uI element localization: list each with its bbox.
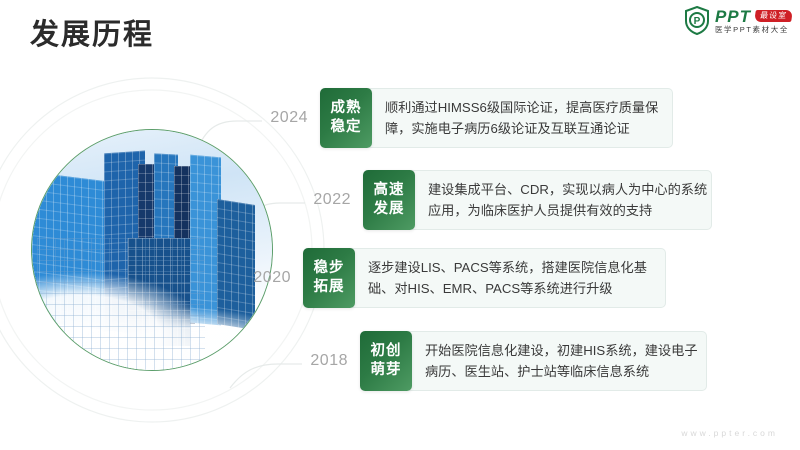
timeline-stage-badge[interactable]: 成熟 稳定 (320, 88, 372, 148)
photo-ring-border (31, 129, 273, 371)
shield-icon: P (684, 6, 710, 35)
timeline-description: 建设集成平台、CDR，实现以病人为中心的系统 应用，为临床医护人员提供有效的支持 (412, 170, 712, 230)
description-line-2: 障，实施电子病历6级论证及互联互通论证 (385, 118, 658, 139)
timeline-year: 2020 (245, 248, 303, 308)
site-watermark: www.ppter.com (681, 428, 778, 438)
description-line-1: 逐步建设LIS、PACS等系统，搭建医院信息化基 (368, 257, 651, 278)
timeline-row[interactable]: 2018 初创 萌芽 开始医院信息化建设，初建HIS系统，建设电子 病历、医生站… (302, 331, 707, 391)
timeline-row[interactable]: 2020 稳步 拓展 逐步建设LIS、PACS等系统，搭建医院信息化基 础、对H… (245, 248, 666, 308)
logo-brand-text: PPT (715, 8, 751, 25)
badge-line-2: 萌芽 (371, 361, 402, 380)
timeline-year: 2022 (305, 170, 363, 230)
badge-line-1: 稳步 (314, 259, 345, 278)
timeline-year: 2018 (302, 331, 360, 391)
timeline-description: 逐步建设LIS、PACS等系统，搭建医院信息化基 础、对HIS、EMR、PACS… (352, 248, 666, 308)
badge-line-1: 成熟 (331, 99, 362, 118)
badge-line-2: 稳定 (331, 118, 362, 137)
brand-logo: P PPT 最设室 医学PPT素材大全 (684, 6, 792, 35)
timeline-row[interactable]: 2022 高速 发展 建设集成平台、CDR，实现以病人为中心的系统 应用，为临床… (305, 170, 712, 230)
description-line-1: 开始医院信息化建设，初建HIS系统，建设电子 (425, 340, 692, 361)
description-line-2: 应用，为临床医护人员提供有效的支持 (428, 200, 697, 221)
badge-line-1: 高速 (374, 181, 405, 200)
page-title: 发展历程 (30, 20, 154, 52)
badge-line-2: 发展 (374, 200, 405, 219)
building-image (32, 130, 272, 370)
timeline-row[interactable]: 2024 成熟 稳定 顺利通过HIMSS6级国际论证，提高医疗质量保 障，实施电… (262, 88, 673, 148)
description-line-1: 顺利通过HIMSS6级国际论证，提高医疗质量保 (385, 97, 658, 118)
description-line-1: 建设集成平台、CDR，实现以病人为中心的系统 (428, 179, 697, 200)
slide-canvas: 发展历程 P PPT 最设室 医学PPT素材大全 (0, 0, 800, 450)
facade-grid-overlay (37, 238, 205, 370)
timeline-stage-badge[interactable]: 高速 发展 (363, 170, 415, 230)
description-line-2: 病历、医生站、护士站等临床信息系统 (425, 361, 692, 382)
timeline-stage-badge[interactable]: 稳步 拓展 (303, 248, 355, 308)
timeline-description: 顺利通过HIMSS6级国际论证，提高医疗质量保 障，实施电子病历6级论证及互联互… (369, 88, 673, 148)
logo-badge: 最设室 (754, 10, 793, 22)
logo-primary-row: PPT 最设室 (715, 8, 792, 25)
timeline-stage-badge[interactable]: 初创 萌芽 (360, 331, 412, 391)
timeline-description: 开始医院信息化建设，初建HIS系统，建设电子 病历、医生站、护士站等临床信息系统 (409, 331, 707, 391)
badge-line-2: 拓展 (314, 278, 345, 297)
svg-text:P: P (694, 16, 701, 27)
circular-building-photo (31, 129, 273, 371)
logo-subtitle: 医学PPT素材大全 (715, 26, 792, 34)
logo-text-block: PPT 最设室 医学PPT素材大全 (715, 8, 792, 34)
timeline-year: 2024 (262, 88, 320, 148)
description-line-2: 础、对HIS、EMR、PACS等系统进行升级 (368, 278, 651, 299)
badge-line-1: 初创 (371, 342, 402, 361)
